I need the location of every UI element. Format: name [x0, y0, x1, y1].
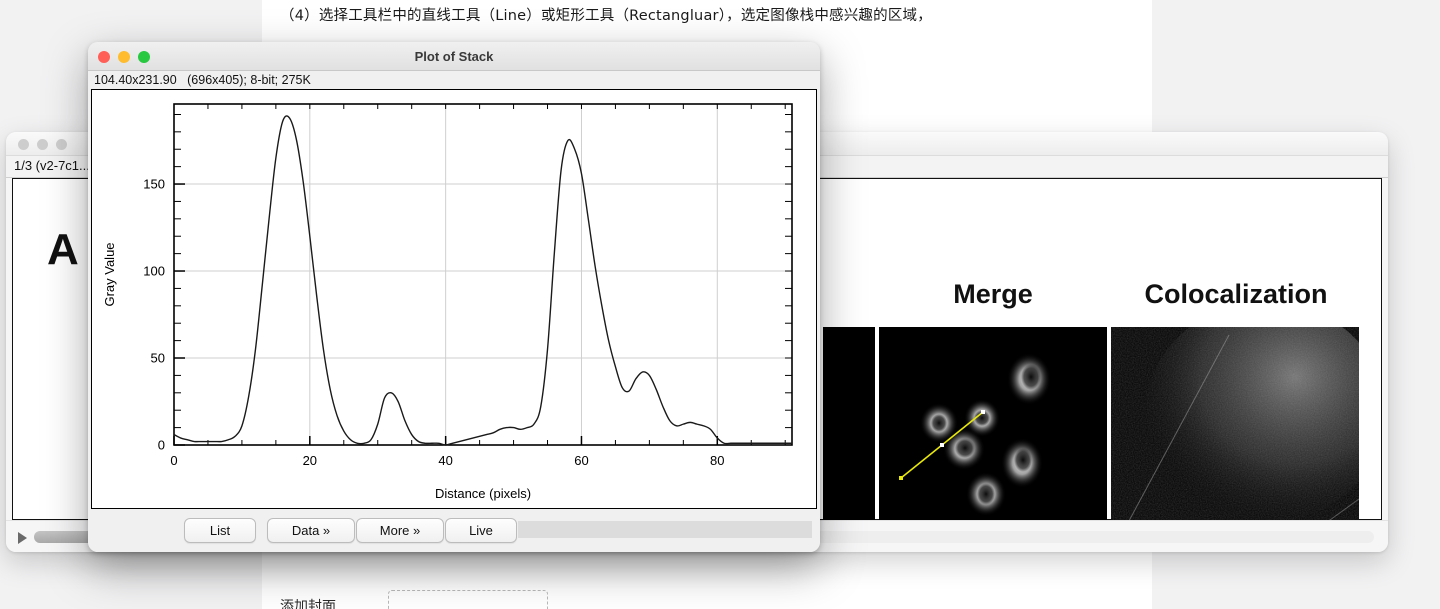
- svg-text:Gray Value: Gray Value: [102, 242, 117, 306]
- colocalization-image[interactable]: PCC = 0.92: [1111, 327, 1359, 552]
- merge-title: Merge: [875, 279, 1111, 310]
- profile-plot: 020406080050100150Distance (pixels)Gray …: [92, 90, 816, 508]
- roi-line-selection[interactable]: [879, 327, 1107, 552]
- svg-text:50: 50: [151, 351, 165, 366]
- more-button[interactable]: More »: [356, 518, 444, 543]
- svg-text:Distance (pixels): Distance (pixels): [435, 486, 531, 501]
- data-button[interactable]: Data »: [267, 518, 355, 543]
- add-cover-dropzone[interactable]: [388, 590, 548, 609]
- plot-info-text: 104.40x231.90 (696x405); 8-bit; 275K: [94, 73, 311, 87]
- svg-text:100: 100: [143, 264, 165, 279]
- svg-text:0: 0: [158, 438, 165, 453]
- background-traffic-lights: [18, 139, 67, 150]
- background-window-info-text: 1/3 (v2-7c1...: [14, 158, 90, 173]
- add-cover-label: 添加封面: [280, 596, 336, 609]
- plot-traffic-lights: [98, 51, 150, 63]
- svg-text:80: 80: [710, 453, 724, 468]
- colocalization-title: Colocalization: [1111, 279, 1361, 310]
- list-button[interactable]: List: [184, 518, 256, 543]
- svg-text:60: 60: [574, 453, 588, 468]
- document-paragraph-1: （4）选择工具栏中的直线工具（Line）或矩形工具（Rectangluar），选…: [280, 4, 932, 25]
- play-icon[interactable]: [18, 532, 27, 544]
- plot-of-stack-window[interactable]: Plot of Stack 104.40x231.90 (696x405); 8…: [88, 42, 820, 552]
- panel-letter-label: A: [47, 225, 79, 275]
- live-button[interactable]: Live: [445, 518, 517, 543]
- svg-text:40: 40: [438, 453, 452, 468]
- minimize-icon[interactable]: [118, 51, 130, 63]
- svg-text:20: 20: [303, 453, 317, 468]
- close-icon[interactable]: [98, 51, 110, 63]
- zoom-icon[interactable]: [56, 139, 67, 150]
- svg-text:150: 150: [143, 177, 165, 192]
- close-icon[interactable]: [18, 139, 29, 150]
- channel-image[interactable]: 20 μm: [823, 327, 875, 552]
- plot-canvas[interactable]: 020406080050100150Distance (pixels)Gray …: [91, 89, 817, 509]
- plot-status-bar: [518, 521, 812, 538]
- screen-root: （4）选择工具栏中的直线工具（Line）或矩形工具（Rectangluar），选…: [0, 0, 1440, 609]
- plot-window-title: Plot of Stack: [88, 42, 820, 71]
- minimize-icon[interactable]: [37, 139, 48, 150]
- svg-text:0: 0: [170, 453, 177, 468]
- merge-image[interactable]: 20 μm: [879, 327, 1107, 552]
- zoom-icon[interactable]: [138, 51, 150, 63]
- plot-button-bar: List Data » More » Live: [88, 510, 820, 552]
- plot-window-titlebar[interactable]: Plot of Stack: [88, 42, 820, 71]
